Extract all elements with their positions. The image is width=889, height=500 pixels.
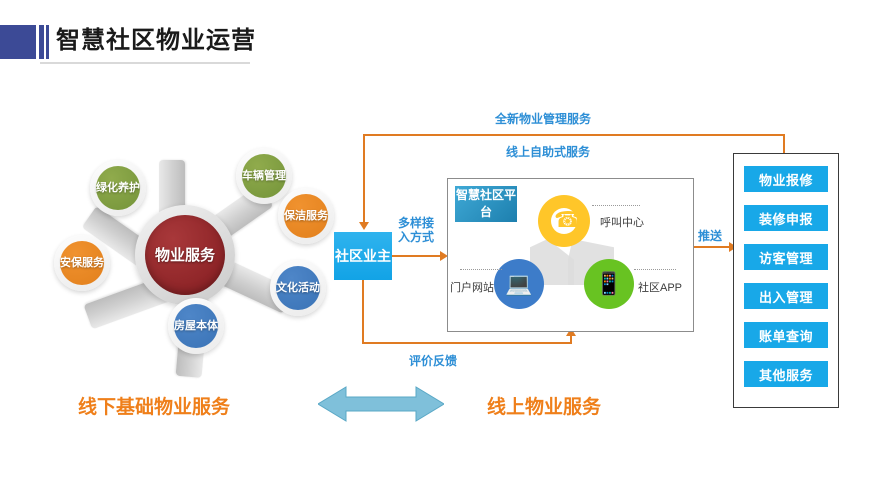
flow-arrow-platform-to-services (694, 246, 732, 248)
service-button-visitor[interactable]: 访客管理 (744, 244, 828, 270)
service-button-access[interactable]: 出入管理 (744, 283, 828, 309)
laptop-icon: 💻 (505, 273, 532, 295)
service-button-other[interactable]: 其他服务 (744, 361, 828, 387)
header-accent-stripe-1 (39, 25, 44, 59)
platform-tag-label: 智慧社区平台 (455, 187, 517, 221)
service-button-repair[interactable]: 物业报修 (744, 166, 828, 192)
hub-node-greening[interactable]: 绿化养护 (90, 160, 146, 216)
flow-arrow-top-left-vertical (363, 134, 365, 224)
header-accent-block (0, 25, 36, 59)
access-label-text: 多样接入方式 (398, 216, 434, 244)
hub-node-culture[interactable]: 文化活动 (270, 260, 326, 316)
footer-label-online: 线上物业服务 (487, 392, 601, 419)
portal-leader-line (460, 269, 502, 270)
hub-node-label: 安保服务 (60, 241, 104, 285)
header-divider (40, 62, 250, 64)
portal-website-label: 门户网站 (450, 279, 494, 295)
hub-node-label: 保洁服务 (284, 194, 328, 238)
flow-arrow-feedback-horizontal (362, 342, 572, 344)
call-center-icon[interactable]: ☎ (538, 195, 590, 247)
service-button-renovation[interactable]: 装修申报 (744, 205, 828, 231)
page-title: 智慧社区物业运营 (56, 24, 256, 58)
service-button-label: 装修申报 (759, 209, 813, 228)
header: 智慧社区物业运营 (0, 25, 889, 59)
flow-label-feedback: 评价反馈 (409, 352, 457, 369)
flow-label-self-service: 线上自助式服务 (506, 143, 590, 160)
call-center-label: 呼叫中心 (600, 214, 644, 230)
community-owner-box[interactable]: 社区业主 (334, 232, 392, 280)
hub-node-label: 绿化养护 (96, 166, 140, 210)
slide-canvas: 智慧社区物业运营 物业服务 车辆管理 保洁服务 文化活动 房屋本体 安保服务 绿… (0, 0, 889, 500)
service-button-label: 访客管理 (759, 248, 813, 267)
app-leader-line (634, 269, 676, 270)
flow-arrow-owner-to-platform (392, 255, 442, 257)
double-arrow-icon (318, 385, 444, 423)
property-service-hub: 物业服务 车辆管理 保洁服务 文化活动 房屋本体 安保服务 绿化养护 (40, 140, 330, 370)
flow-arrow-top-horizontal (363, 134, 785, 136)
flow-label-new-service: 全新物业管理服务 (495, 110, 591, 127)
service-button-label: 物业报修 (759, 170, 813, 189)
smart-community-platform-panel: 智慧社区平台 ☎ 呼叫中心 💻 门户网站 📱 社区APP (447, 178, 694, 332)
hub-node-building[interactable]: 房屋本体 (168, 298, 224, 354)
community-app-icon[interactable]: 📱 (584, 259, 634, 309)
hub-node-cleaning[interactable]: 保洁服务 (278, 188, 334, 244)
community-app-label: 社区APP (638, 279, 682, 295)
mobile-icon: 📱 (595, 273, 622, 295)
header-accent-stripe-2 (46, 25, 49, 59)
flow-arrow-feedback-vertical-left (362, 280, 364, 344)
flow-arrow-head-to-owner (359, 222, 369, 230)
flow-arrow-top-right-vertical (783, 134, 785, 154)
hub-node-label: 文化活动 (276, 266, 320, 310)
service-button-label: 出入管理 (759, 287, 813, 306)
service-button-label: 账单查询 (759, 326, 813, 345)
service-list-panel: 物业报修 装修申报 访客管理 出入管理 账单查询 其他服务 (733, 153, 839, 408)
call-center-leader-line (592, 205, 640, 206)
hub-node-vehicle[interactable]: 车辆管理 (236, 148, 292, 204)
service-button-billing[interactable]: 账单查询 (744, 322, 828, 348)
phone-icon: ☎ (554, 209, 581, 231)
hub-node-security[interactable]: 安保服务 (54, 235, 110, 291)
footer-label-offline: 线下基础物业服务 (78, 392, 230, 419)
hub-core: 物业服务 (145, 215, 225, 295)
hub-node-label: 房屋本体 (174, 304, 218, 348)
flow-label-access-methods: 多样接入方式 (398, 216, 438, 244)
portal-website-icon[interactable]: 💻 (494, 259, 544, 309)
service-button-label: 其他服务 (759, 365, 813, 384)
hub-core-label: 物业服务 (155, 247, 215, 264)
flow-label-push: 推送 (698, 227, 722, 244)
community-owner-label: 社区业主 (335, 248, 391, 264)
platform-tag: 智慧社区平台 (455, 186, 517, 222)
hub-node-label: 车辆管理 (242, 154, 286, 198)
